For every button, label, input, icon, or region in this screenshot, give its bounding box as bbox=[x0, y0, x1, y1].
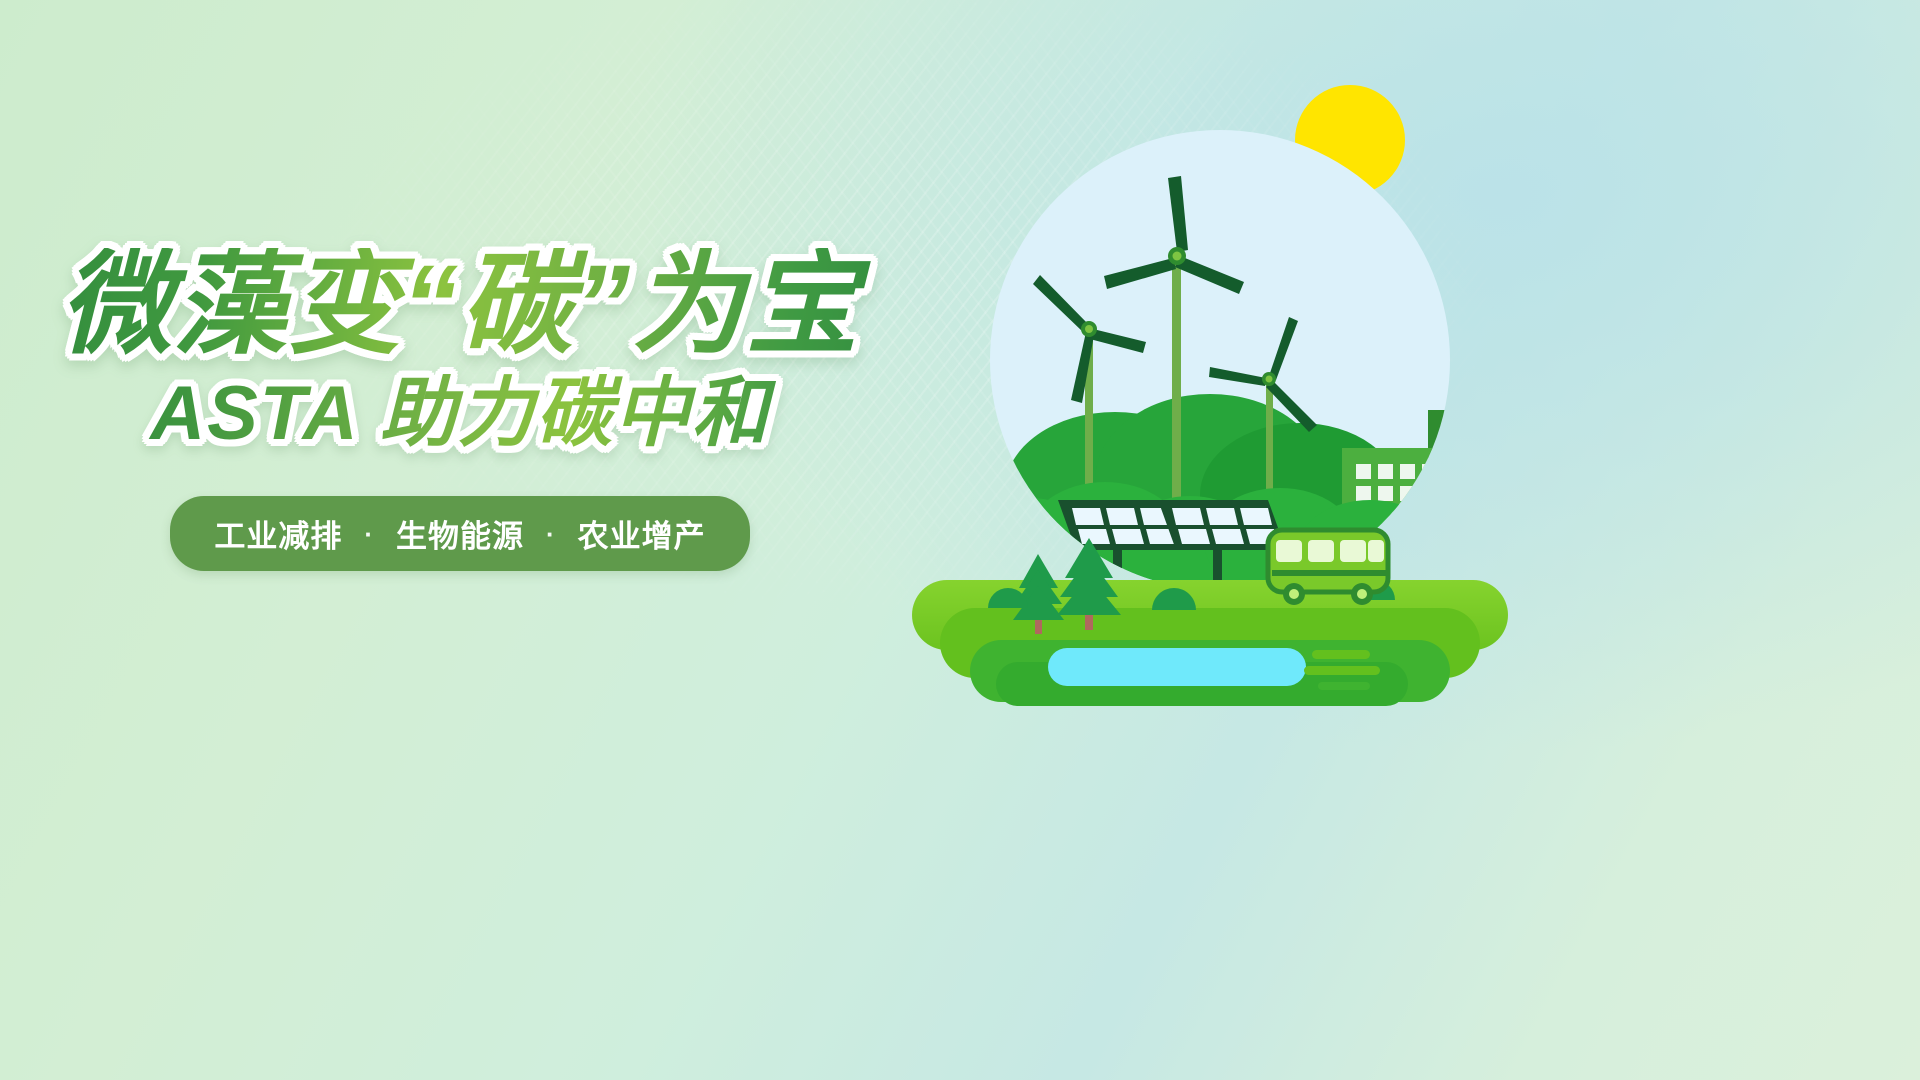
eco-city-illustration bbox=[900, 70, 1520, 670]
tag-separator-dot-2: · bbox=[546, 521, 556, 547]
page-title: 微藻变“碳”为宝 bbox=[0, 248, 920, 362]
lake bbox=[1048, 648, 1380, 690]
tag-pill-wrapper: 工业减排 · 生物能源 · 农业增产 bbox=[0, 496, 920, 571]
tag-industrial-reduction: 工业减排 bbox=[214, 511, 342, 556]
page-subtitle: ASTA 助力碳中和 bbox=[0, 374, 920, 454]
electric-bus bbox=[1268, 530, 1388, 605]
tag-separator-dot-1: · bbox=[364, 521, 374, 547]
feature-tags-pill: 工业减排 · 生物能源 · 农业增产 bbox=[170, 496, 749, 571]
banner-copy: 微藻变“碳”为宝 ASTA 助力碳中和 工业减排 · 生物能源 · 农业增产 bbox=[0, 248, 920, 571]
tag-bioenergy: 生物能源 bbox=[396, 511, 524, 556]
eco-promo-banner: 微藻变“碳”为宝 ASTA 助力碳中和 工业减排 · 生物能源 · 农业增产 bbox=[0, 0, 1920, 1080]
tag-agricultural-yield: 农业增产 bbox=[578, 511, 706, 556]
building-tall-windows bbox=[1446, 430, 1541, 525]
